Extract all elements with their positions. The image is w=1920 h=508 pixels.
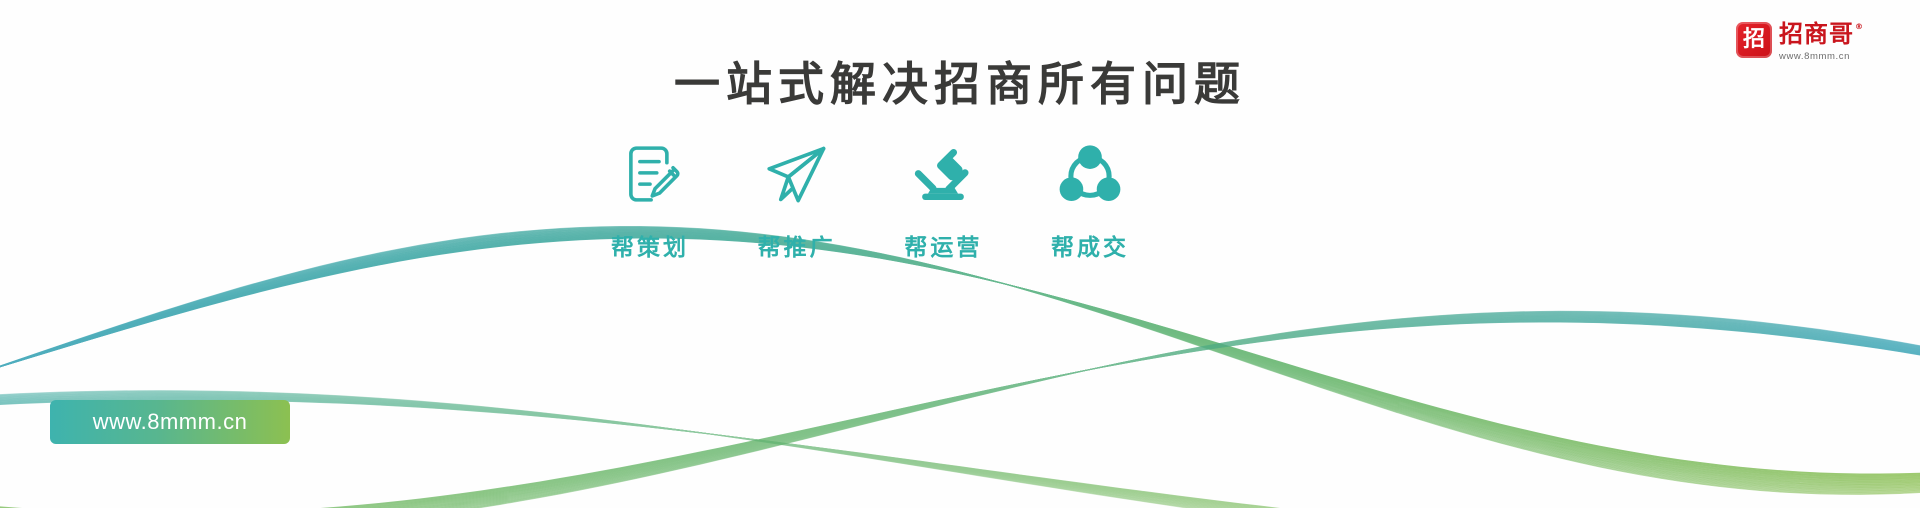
document-pencil-icon — [614, 136, 686, 212]
feature-label: 帮策划 — [611, 228, 689, 262]
logo-mark-icon: 招 — [1736, 22, 1772, 58]
paper-plane-icon — [760, 136, 834, 212]
feature-item-promotion[interactable]: 帮推广 — [737, 136, 857, 262]
registered-trademark-icon: ® — [1855, 23, 1864, 31]
feature-item-operation[interactable]: 帮运营 — [883, 136, 1003, 262]
feature-item-deal[interactable]: 帮成交 — [1030, 136, 1150, 262]
feature-label: 帮推广 — [758, 228, 836, 262]
feature-label: 帮成交 — [1051, 228, 1129, 262]
website-url-badge[interactable]: www.8mmm.cn — [50, 400, 290, 444]
page-title: 一站式解决招商所有问题 — [0, 56, 1920, 114]
feature-item-planning[interactable]: 帮策划 — [590, 136, 710, 262]
feature-label: 帮运营 — [904, 228, 982, 262]
network-share-icon — [1054, 136, 1126, 212]
feature-list: 帮策划 帮推广 — [590, 136, 1150, 262]
logo-brand-name-text: 招商哥 — [1779, 22, 1854, 48]
promo-banner: 招 招商哥 ® www.8mmm.cn 一站式解决招商所有问题 — [0, 0, 1920, 508]
gavel-icon — [906, 136, 980, 212]
logo-mark-char: 招 — [1743, 29, 1765, 51]
logo-brand-name: 招商哥 ® — [1779, 22, 1864, 48]
website-url-text: www.8mmm.cn — [93, 409, 248, 435]
